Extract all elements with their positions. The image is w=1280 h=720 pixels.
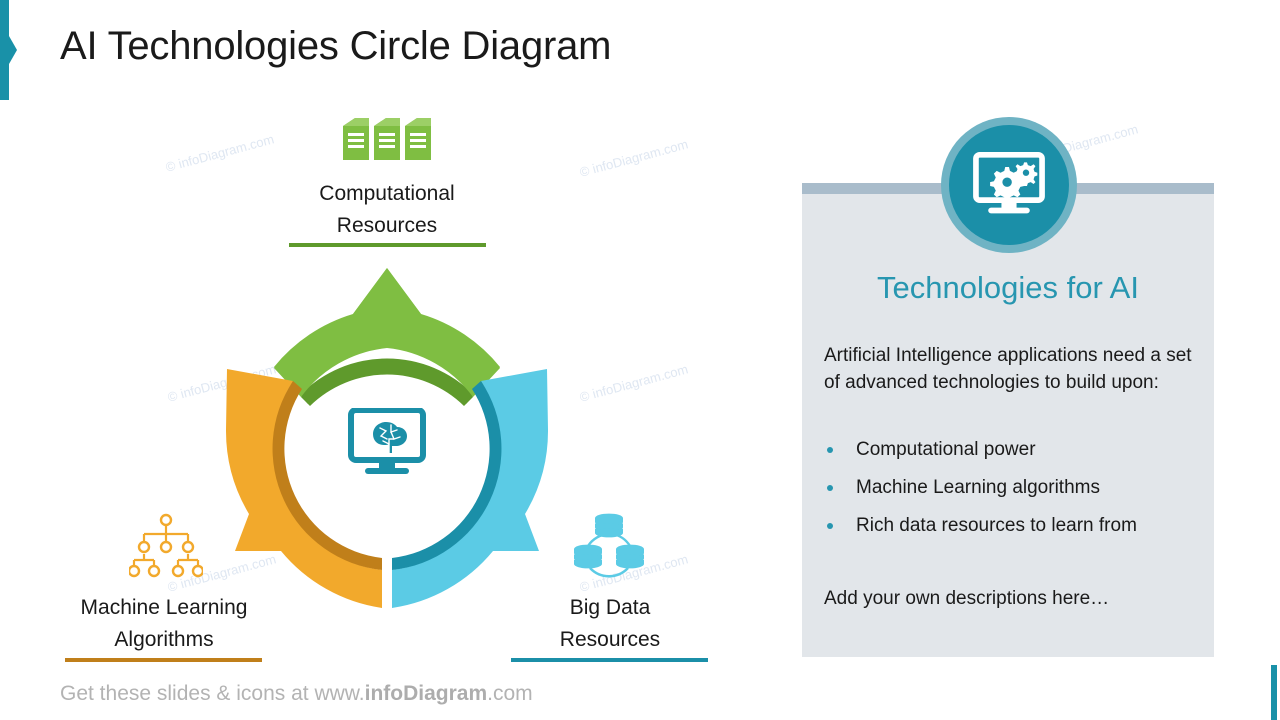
node-label-line2: Algorithms xyxy=(44,624,284,656)
donut-segment-ml[interactable] xyxy=(226,369,382,608)
donut-segment-computational-body[interactable] xyxy=(274,268,500,397)
bullet-dot-icon xyxy=(827,485,833,491)
donut-segment-bigdata[interactable] xyxy=(392,369,548,608)
panel-footnote: Add your own descriptions here… xyxy=(824,588,1196,610)
node-label-big-data-resources: Big Data Resources xyxy=(490,592,730,655)
node-label-line2: Resources xyxy=(267,210,507,242)
node-label-line1: Big Data xyxy=(490,592,730,624)
node-label-computational-resources: Computational Resources xyxy=(267,178,507,241)
list-item: Rich data resources to learn from xyxy=(824,516,1196,535)
databases-icon xyxy=(572,512,646,578)
list-item: Computational power xyxy=(824,440,1196,459)
node-rule-computational-resources xyxy=(289,243,486,247)
footer-prefix: Get these slides & icons at www. xyxy=(60,682,365,705)
node-rule-big-data-resources xyxy=(511,658,708,662)
bullet-dot-icon xyxy=(827,523,833,529)
node-label-line2: Resources xyxy=(490,624,730,656)
neural-network-icon xyxy=(129,512,203,578)
panel-heading: Technologies for AI xyxy=(802,270,1214,306)
right-accent-bar xyxy=(1271,665,1277,720)
panel-badge-inner xyxy=(949,125,1069,245)
circle-diagram: Computational Resources xyxy=(0,0,760,720)
bullet-dot-icon xyxy=(827,447,833,453)
footer-brand: infoDiagram xyxy=(365,682,488,705)
monitor-gears-icon xyxy=(971,151,1047,219)
panel-bullet-list: Computational power Machine Learning alg… xyxy=(824,440,1196,554)
node-label-line1: Machine Learning xyxy=(44,592,284,624)
node-rule-machine-learning-algorithms xyxy=(65,658,262,662)
panel-body-text: Artificial Intelligence applications nee… xyxy=(824,343,1196,397)
list-item: Machine Learning algorithms xyxy=(824,478,1196,497)
list-item-label: Machine Learning algorithms xyxy=(856,477,1100,498)
list-item-label: Rich data resources to learn from xyxy=(856,515,1137,536)
servers-icon xyxy=(341,112,433,168)
list-item-label: Computational power xyxy=(856,439,1036,460)
monitor-brain-icon xyxy=(347,408,427,480)
footer-credit: Get these slides & icons at www.infoDiag… xyxy=(60,682,533,706)
node-label-line1: Computational xyxy=(267,178,507,210)
panel-badge xyxy=(941,117,1077,253)
footer-suffix: .com xyxy=(487,682,533,705)
technologies-panel xyxy=(802,183,1214,657)
node-label-machine-learning-algorithms: Machine Learning Algorithms xyxy=(44,592,284,655)
